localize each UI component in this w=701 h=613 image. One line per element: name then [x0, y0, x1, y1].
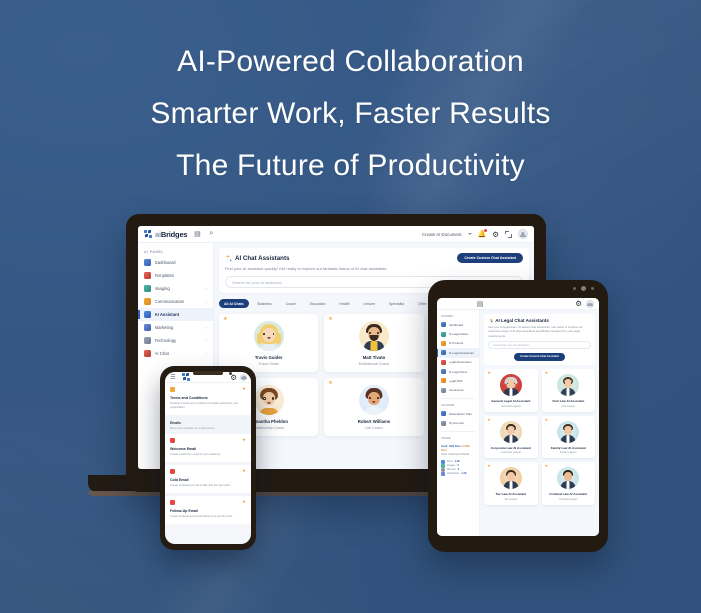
assistant-role: Civil Lawyer: [545, 405, 592, 408]
document-icon[interactable]: ▤: [193, 230, 201, 238]
list-item-title: Terms and Conditions: [170, 396, 246, 400]
sidebar-item-label: AI Legal Docs: [449, 370, 468, 374]
assistant-avatar: [254, 321, 284, 351]
hero-headline: AI-Powered Collaboration Smarter Work, F…: [0, 36, 701, 192]
phone-screen: ☰ ⚙ ★ Terms and Conditions Develop a ter…: [165, 372, 251, 544]
assistant-role: Criminal Lawyer: [545, 498, 592, 501]
legal-assistants-icon: [441, 350, 446, 355]
sidebar-item-ai-legal-notes[interactable]: AI Legal Notes›: [437, 329, 479, 338]
gear-icon[interactable]: ⚙: [575, 299, 582, 308]
sidebar-item-documents[interactable]: Documents›: [437, 386, 479, 395]
ai-assistant-icon: [144, 311, 151, 318]
sidebar-item-ai-legal-docs[interactable]: AI Legal Docs›: [437, 367, 479, 376]
brand-logo[interactable]: aiBridges: [144, 230, 187, 239]
sidebar-item-label: AI Legal Notes: [449, 332, 469, 336]
account-icon: [441, 421, 446, 426]
assistant-avatar: [500, 467, 522, 489]
templates-icon: [144, 272, 151, 279]
assistant-card[interactable]: ★ Travis Guider: [219, 314, 318, 372]
create-custom-chat-assistant-button[interactable]: Create Custom Chat Assistant: [457, 253, 523, 263]
filter-chip-education[interactable]: Education: [305, 299, 331, 308]
create-custom-chat-assistant-button[interactable]: Create Custom Chat Assistant: [514, 353, 565, 361]
favorite-star-icon[interactable]: ★: [545, 418, 549, 422]
assistant-name: Civil Law AI Assistant: [545, 399, 592, 403]
tablet-assistant-grid: ★ General Legal AI Assistant General Le: [484, 369, 595, 505]
phone-list: ★ Terms and Conditions Develop a terms a…: [165, 383, 251, 524]
sidebar-item-dashboard[interactable]: Dashboard: [138, 256, 213, 269]
list-item-description: Create professional emails follow-up to …: [170, 515, 246, 519]
favorite-star-icon[interactable]: ★: [487, 418, 491, 422]
chevron-right-icon: ›: [474, 332, 475, 336]
assistant-card[interactable]: ★ Civil Law AI Assistant Civil Lawyer: [542, 369, 595, 412]
sidebar-item-label: My Account: [449, 421, 465, 425]
sidebar-item-label: Technology: [155, 338, 177, 343]
sidebar-item-label: Legal PDF: [449, 379, 463, 383]
sparkle-icon: [488, 318, 493, 323]
sidebar-item-technology[interactable]: Technology›: [138, 334, 213, 347]
list-item[interactable]: ★ Welcome Email Create a welcome email f…: [165, 434, 251, 462]
chevron-right-icon: ›: [474, 341, 475, 345]
assistant-role: Motivational Coach: [328, 362, 419, 366]
user-avatar-icon[interactable]: [586, 300, 594, 308]
sidebar-item-label: AI Assistant: [155, 312, 180, 317]
sidebar-item-ai-assistant[interactable]: AI Assistant: [138, 308, 213, 321]
email-icon: [170, 469, 175, 474]
assistant-avatar: [557, 374, 579, 396]
sparkle-icon: [225, 255, 232, 262]
favorite-star-icon[interactable]: ★: [487, 464, 491, 468]
assistant-avatar: [557, 467, 579, 489]
imaging-icon: [144, 285, 151, 292]
user-avatar-icon[interactable]: [240, 374, 247, 381]
section-title: Emails: [170, 421, 246, 425]
assistant-name: Family Law AI Assistant: [545, 446, 592, 450]
sidebar-item-subscription-plan[interactable]: Subscription Plan: [437, 409, 479, 418]
protocol-icon: [441, 341, 446, 346]
list-section-header: Emails Boost your templates for email co…: [165, 418, 251, 434]
assistant-avatar: [557, 421, 579, 443]
brand-name-main: Bridges: [161, 230, 188, 239]
gear-icon[interactable]: ⚙: [492, 230, 499, 239]
sidebar-item-templates[interactable]: Templates: [138, 269, 213, 282]
sidebar-item-label: Templates: [155, 273, 175, 278]
tablet-page-header: AI Legal Chat Assistants Get your AI leg…: [484, 314, 595, 365]
list-item[interactable]: ★ Terms and Conditions Develop a terms a…: [165, 383, 251, 415]
tablet-main-content: AI Legal Chat Assistants Get your AI leg…: [480, 310, 599, 536]
automation-icon: [441, 360, 446, 365]
tablet-shell: ▤ ⚙ AI PANEL Dashboard AI Legal Notes› A…: [428, 280, 608, 552]
assistant-role: Corporate Lawyer: [487, 451, 534, 454]
filter-chip-business[interactable]: Business: [253, 299, 277, 308]
assistant-avatar: [254, 385, 284, 415]
assistant-role: Life Coach: [328, 426, 419, 430]
expand-icon[interactable]: [505, 231, 512, 238]
sidebar-item-label: Dashboard: [449, 323, 464, 327]
user-avatar-icon[interactable]: [518, 229, 528, 239]
sidebar-item-dashboard[interactable]: Dashboard: [437, 320, 479, 329]
assistant-name: Robert Williams: [328, 419, 419, 424]
assistant-role: General Legal AI: [487, 405, 534, 408]
assistant-card[interactable]: ★ Tax Law AI Assistant Tax Lawyer: [484, 462, 537, 505]
sidebar-item-legal-automation[interactable]: Legal Automation›: [437, 358, 479, 367]
phone-notch: [193, 371, 223, 375]
favorite-star-icon[interactable]: ★: [242, 500, 246, 505]
filter-chip-all[interactable]: All AI Chats: [219, 299, 249, 308]
favorite-star-icon[interactable]: ★: [242, 469, 246, 474]
headline-line-3: The Future of Productivity: [0, 140, 701, 192]
assistant-name: Tax Law AI Assistant: [487, 492, 534, 496]
section-description: Boost your templates for email content.: [170, 427, 246, 430]
favorite-star-icon[interactable]: ★: [242, 387, 246, 392]
favorite-star-icon[interactable]: ★: [487, 371, 491, 375]
template-icon: [170, 387, 175, 392]
sidebar-item-label: AI Chat: [155, 351, 169, 356]
email-icon: [170, 438, 175, 443]
pdf-icon: [441, 378, 446, 383]
page-subtitle: Find your AI assistant quickly! Get read…: [225, 266, 523, 271]
assistant-name: Matt Tivato: [328, 355, 419, 360]
filter-chip-specialist[interactable]: Specialist: [384, 299, 409, 308]
sidebar-item-label: Dashboard: [155, 260, 176, 265]
usage-line-2-value: AI Words: [459, 453, 469, 456]
assistant-card[interactable]: ★ General Legal AI Assistant General Le: [484, 369, 537, 412]
chevron-right-icon: ›: [474, 379, 475, 383]
chars-icon: [441, 472, 445, 476]
chevron-right-icon: ›: [206, 338, 207, 343]
technology-icon: [144, 337, 151, 344]
chevron-right-icon: ›: [206, 299, 207, 304]
page-subtitle: Get your AI legal team. AI-based chat as…: [488, 325, 591, 338]
favorite-star-icon[interactable]: ★: [545, 464, 549, 468]
assistant-name: Criminal Law AI Assistant: [545, 492, 592, 496]
blocks-logo-icon: [144, 230, 153, 239]
sidebar-item-ai-legal-assistants[interactable]: AI Legal Assistants: [437, 348, 479, 357]
assistant-card[interactable]: ★ Criminal Law AI Assistant Criminal Law…: [542, 462, 595, 505]
assistant-card[interactable]: ★ Robert Williams Life Coach: [324, 378, 423, 436]
phone-shell: ☰ ⚙ ★ Terms and Conditions Develop a ter…: [160, 366, 256, 550]
sidebar-item-imaging[interactable]: Imaging›: [138, 282, 213, 295]
search-icon[interactable]: ⌕: [207, 230, 215, 238]
blocks-logo-icon[interactable]: [182, 373, 191, 382]
usage-stat-value: 1.2K: [461, 472, 466, 476]
brand-name: aiBridges: [155, 230, 187, 239]
list-item-title: Cold Email: [170, 478, 246, 482]
chevron-right-icon: ›: [206, 351, 207, 356]
assistant-role: Family Lawyer: [545, 451, 592, 454]
assistant-card[interactable]: ★ Matt Tivato Motiva: [324, 314, 423, 372]
camera-dots-icon: [573, 286, 594, 291]
tablet-screen: ▤ ⚙ AI PANEL Dashboard AI Legal Notes› A…: [437, 298, 599, 536]
list-item-description: Develop a terms and conditions template …: [170, 402, 246, 410]
usage-stat-label: Characters: [447, 472, 459, 476]
list-item-title: Welcome Email: [170, 447, 246, 451]
favorite-star-icon[interactable]: ★: [223, 317, 227, 322]
subscription-icon: [441, 411, 446, 416]
tablet-sidebar: AI PANEL Dashboard AI Legal Notes› AI Pr…: [437, 310, 480, 536]
assistant-avatar: [500, 374, 522, 396]
assistant-card[interactable]: ★ Corporate Law AI Assistant Corporate: [484, 416, 537, 459]
chevron-right-icon: ›: [206, 286, 207, 291]
account-caption: ACCOUNT: [437, 402, 479, 409]
assistant-role: Tax Lawyer: [487, 498, 534, 501]
dashboard-icon: [144, 259, 151, 266]
usage-summary: Used: 1923 Files of 5000 Files Used: Unl…: [437, 442, 479, 480]
notes-icon: [441, 332, 446, 337]
sidebar-caption: AI PANEL: [138, 247, 213, 256]
page-title: AI Legal Chat Assistants: [495, 318, 549, 323]
ai-chat-icon: [144, 350, 151, 357]
page-title-row: AI Chat Assistants Create Custom Chat As…: [225, 253, 523, 263]
sidebar-item-label: Marketing: [155, 325, 174, 330]
phone-mockup: ☰ ⚙ ★ Terms and Conditions Develop a ter…: [160, 366, 256, 550]
tablet-mockup: ▤ ⚙ AI PANEL Dashboard AI Legal Notes› A…: [428, 280, 608, 552]
assistant-card[interactable]: ★ Family Law AI Assistant Family Lawyer: [542, 416, 595, 459]
sidebar-item-label: Imaging: [155, 286, 170, 291]
assistant-name: Travis Guider: [223, 355, 314, 360]
sidebar-item-ai-chat[interactable]: AI Chat›: [138, 347, 213, 360]
sidebar-item-label: Communication: [155, 299, 185, 304]
sidebar-item-communication[interactable]: Communication›: [138, 295, 213, 308]
laptop-topbar: aiBridges ▤ ⌕ Create AI Document 🔔 ⚙: [138, 226, 534, 243]
sidebar-item-label: AI Protocol: [449, 341, 464, 345]
sidebar-item-label: Subscription Plan: [449, 412, 472, 416]
list-item-description: Create professional cold emails with the…: [170, 484, 246, 488]
list-item[interactable]: ★ Follow-Up Email Create professional em…: [165, 496, 251, 524]
chevron-down-icon[interactable]: [468, 233, 472, 235]
assistant-avatar: [500, 421, 522, 443]
chevron-right-icon: ›: [206, 325, 207, 330]
sidebar-item-label: Documents: [449, 388, 464, 392]
favorite-star-icon[interactable]: ★: [328, 317, 332, 322]
headline-line-1: AI-Powered Collaboration: [0, 36, 701, 88]
sidebar-item-label: AI Legal Assistants: [449, 351, 474, 355]
filter-chip-coach[interactable]: Coach: [281, 299, 301, 308]
chevron-right-icon: ›: [474, 360, 475, 364]
chevron-right-icon: ›: [474, 370, 475, 374]
email-icon: [170, 500, 175, 505]
page-title: AI Chat Assistants: [235, 255, 289, 262]
docs-icon: [441, 369, 446, 374]
favorite-star-icon[interactable]: ★: [328, 381, 332, 386]
list-item[interactable]: ★ Cold Email Create professional cold em…: [165, 465, 251, 493]
assistant-avatar: [359, 321, 389, 351]
favorite-star-icon[interactable]: ★: [545, 371, 549, 375]
list-item-title: Follow-Up Email: [170, 509, 246, 513]
usage-line-1: Used: 1923 Files: [441, 445, 461, 448]
menu-icon[interactable]: ☰: [169, 373, 177, 381]
filter-chip-health[interactable]: Health: [334, 299, 354, 308]
search-input[interactable]: Search for your AI assistant...: [488, 341, 591, 349]
tablet-topbar: ▤ ⚙: [437, 298, 599, 310]
list-item-description: Create a welcome email for your audience…: [170, 453, 246, 457]
notification-bell-icon[interactable]: 🔔: [478, 230, 487, 238]
hero-stage: AI-Powered Collaboration Smarter Work, F…: [0, 0, 701, 613]
communication-icon: [144, 298, 151, 305]
usage-caption: USAGE: [437, 435, 479, 442]
sidebar-item-legal-pdf[interactable]: Legal PDF›: [437, 376, 479, 385]
filter-chip-leisure[interactable]: Leisure: [359, 299, 380, 308]
create-ai-document-button[interactable]: Create AI Document: [422, 232, 462, 237]
favorite-star-icon[interactable]: ★: [242, 438, 246, 443]
dashboard-icon: [441, 322, 446, 327]
document-icon[interactable]: ▤: [476, 300, 484, 308]
assistant-name: Corporate Law AI Assistant: [487, 446, 534, 450]
chevron-right-icon: ›: [474, 388, 475, 392]
marketing-icon: [144, 324, 151, 331]
assistant-name: General Legal AI Assistant: [487, 399, 534, 403]
sidebar-item-marketing[interactable]: Marketing›: [138, 321, 213, 334]
sidebar-item-label: Legal Automation: [449, 360, 472, 364]
sidebar-item-ai-protocol[interactable]: AI Protocol›: [437, 339, 479, 348]
assistant-avatar: [359, 385, 389, 415]
headline-line-2: Smarter Work, Faster Results: [0, 88, 701, 140]
documents-icon: [441, 388, 446, 393]
sidebar-item-my-account[interactable]: My Account: [437, 418, 479, 427]
usage-line-2: Used: Unlimited: [441, 453, 459, 456]
topbar-actions: Create AI Document 🔔 ⚙: [422, 229, 528, 239]
sidebar-caption: AI PANEL: [437, 313, 479, 320]
